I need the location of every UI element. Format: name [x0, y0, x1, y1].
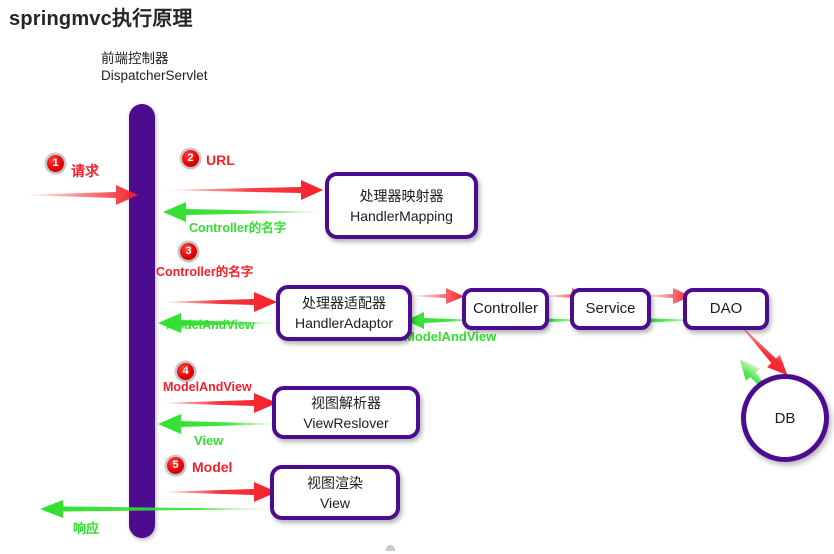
label-controller-name-red: Controller的名字 [156, 261, 253, 280]
label-view: View [194, 433, 223, 448]
node-handler-mapping: 处理器映射器 HandlerMapping [325, 172, 478, 239]
node-controller: Controller [462, 288, 549, 330]
node-db: DB [741, 374, 829, 462]
badge-step-3: 3 [180, 243, 197, 260]
page-title: springmvc执行原理 [9, 2, 193, 31]
arrow-request [20, 182, 145, 206]
badge-step-2: 2 [182, 150, 199, 167]
label-url: URL [206, 152, 235, 168]
label-modelandview-step4: ModelAndView [163, 380, 252, 394]
arrow-adaptor-to-controller [408, 285, 468, 305]
label-controller-name-green: Controller的名字 [189, 217, 286, 236]
arrow-url [160, 177, 330, 201]
node-handler-adaptor: 处理器适配器 HandlerAdaptor [276, 285, 412, 341]
dispatcher-servlet-label-cn: 前端控制器 [101, 50, 208, 67]
label-response: 响应 [73, 518, 99, 537]
badge-step-5: 5 [167, 457, 184, 474]
dispatcher-servlet-bar [129, 104, 155, 538]
label-modelandview-center: ModelAndView [404, 329, 496, 344]
arrow-controller-name-request [158, 289, 283, 313]
label-request: 请求 [71, 161, 99, 181]
node-service: Service [570, 288, 651, 330]
dispatcher-servlet-label-en: DispatcherServlet [101, 67, 208, 84]
node-view-render: 视图渲染 View [270, 465, 400, 520]
label-modelandview-left: ModelAndView [166, 318, 255, 332]
arrow-view-return [155, 411, 283, 435]
node-dao: DAO [683, 288, 769, 330]
node-view-resolver: 视图解析器 ViewReslover [272, 386, 420, 439]
label-model: Model [192, 459, 232, 475]
diagram-canvas: springmvc执行原理 前端控制器 DispatcherServlet [0, 0, 834, 554]
cropped-artifact [386, 545, 395, 551]
badge-step-4: 4 [177, 363, 194, 380]
dispatcher-servlet-label: 前端控制器 DispatcherServlet [101, 50, 208, 84]
badge-step-1: 1 [47, 155, 64, 172]
arrow-model-to-view [158, 479, 283, 503]
